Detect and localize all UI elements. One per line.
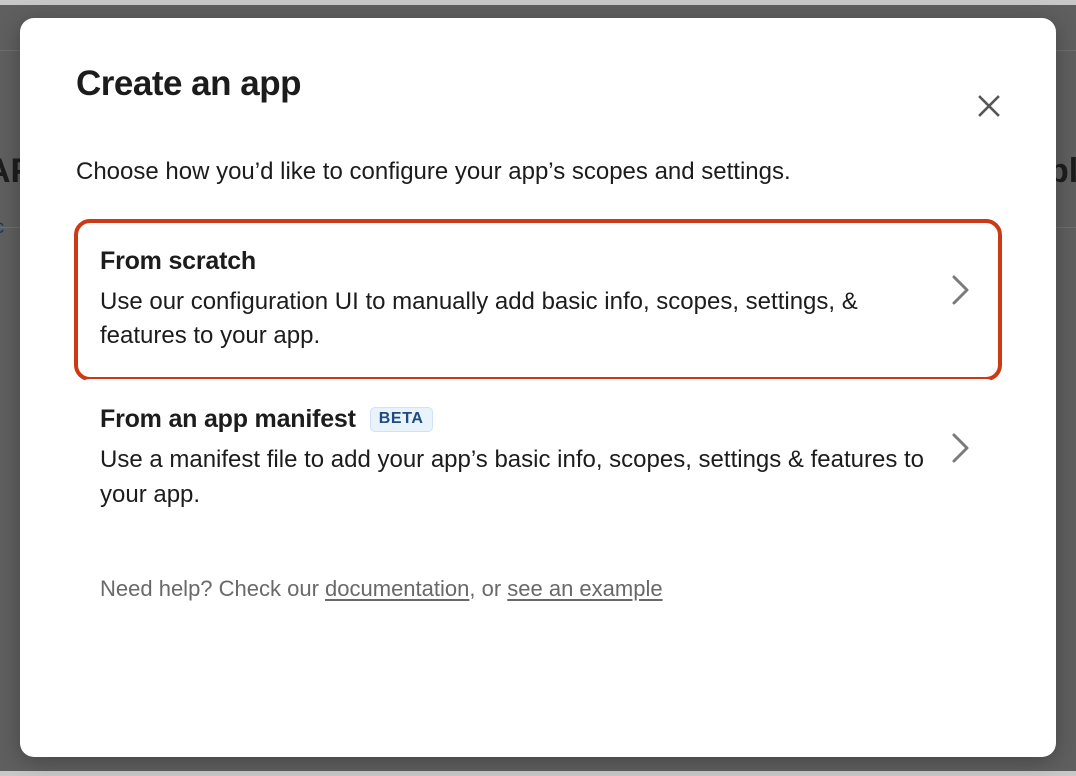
- create-an-app-dialog: Create an app Choose how you’d like to c…: [20, 18, 1056, 757]
- dialog-subtitle: Choose how you’d like to configure your …: [76, 156, 1000, 188]
- option-text-block: From an app manifest BETA Use a manifest…: [100, 405, 948, 512]
- chevron-right-icon: [948, 271, 972, 314]
- help-middle: , or: [469, 576, 507, 601]
- documentation-link[interactable]: documentation: [325, 576, 469, 601]
- beta-badge: BETA: [370, 407, 433, 432]
- close-icon: [976, 93, 1002, 122]
- option-from-scratch[interactable]: From scratch Use our configuration UI to…: [76, 221, 1000, 380]
- app-creation-options: From scratch Use our configuration UI to…: [76, 221, 1000, 538]
- close-button[interactable]: [972, 90, 1006, 124]
- see-an-example-link[interactable]: see an example: [507, 576, 662, 601]
- option-heading: From an app manifest: [100, 405, 356, 434]
- help-text: Need help? Check our documentation, or s…: [76, 576, 1000, 602]
- option-heading-line: From an app manifest BETA: [100, 405, 948, 434]
- dialog-title: Create an app: [76, 64, 1000, 104]
- option-description: Use our configuration UI to manually add…: [100, 285, 948, 354]
- option-description: Use a manifest file to add your app’s ba…: [100, 443, 948, 512]
- backdrop-partial-link-left: oc: [0, 217, 4, 239]
- chevron-right-icon: [948, 429, 972, 472]
- window-edge-top: [0, 0, 1076, 5]
- option-heading: From scratch: [100, 247, 256, 276]
- option-from-app-manifest[interactable]: From an app manifest BETA Use a manifest…: [76, 379, 1000, 538]
- window-edge-bottom: [0, 771, 1076, 776]
- option-text-block: From scratch Use our configuration UI to…: [100, 247, 948, 354]
- dialog-body: Create an app Choose how you’d like to c…: [20, 18, 1056, 757]
- option-heading-line: From scratch: [100, 247, 948, 276]
- help-prefix: Need help? Check our: [100, 576, 325, 601]
